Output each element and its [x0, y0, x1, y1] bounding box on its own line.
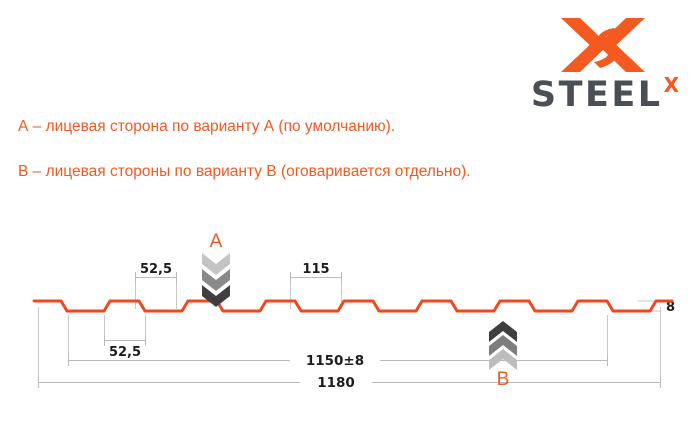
marker-a-chevrons-down-icon: [196, 251, 236, 309]
marker-a-label: A: [196, 232, 236, 251]
dimension-overall-width: 1180: [39, 375, 661, 391]
dimension-label-rib-spacing: 115: [302, 262, 329, 277]
brand-logo: STEEL X: [508, 14, 684, 112]
dimension-label-rib-pitch-top: 52,5: [140, 262, 172, 277]
sheet-profile-outline: [34, 301, 672, 311]
dimension-label-rib-pitch-bottom: 52,5: [109, 345, 141, 360]
marker-b: B: [483, 320, 523, 389]
brand-wordmark: STEEL X: [531, 78, 678, 112]
dimension-label-overall-width: 1180: [317, 375, 355, 391]
dimension-rib-spacing: 115: [291, 262, 342, 283]
wordmark-steel-text: STEEL: [531, 78, 663, 113]
marker-b-chevrons-up-icon: [483, 320, 523, 370]
marker-a: A: [196, 232, 236, 309]
marker-b-label: B: [483, 370, 523, 389]
legend-line-a: А – лицевая сторона по варианту А (по ум…: [18, 118, 395, 136]
dimension-useful-width: 1150±8: [69, 353, 608, 369]
dimension-rib-pitch-top: 52,5: [136, 262, 177, 283]
dimension-label-useful-width: 1150±8: [306, 353, 364, 369]
steelx-x-monogram-icon: [560, 14, 646, 76]
profile-technical-drawing: 52,5 52,5 115 8 1150±8: [0, 215, 700, 436]
legend-line-b: В – лицевая стороны по варианту В (огова…: [18, 163, 471, 181]
dimension-rib-pitch-bottom: 52,5: [105, 335, 146, 360]
wordmark-superscript-x: X: [664, 75, 679, 95]
